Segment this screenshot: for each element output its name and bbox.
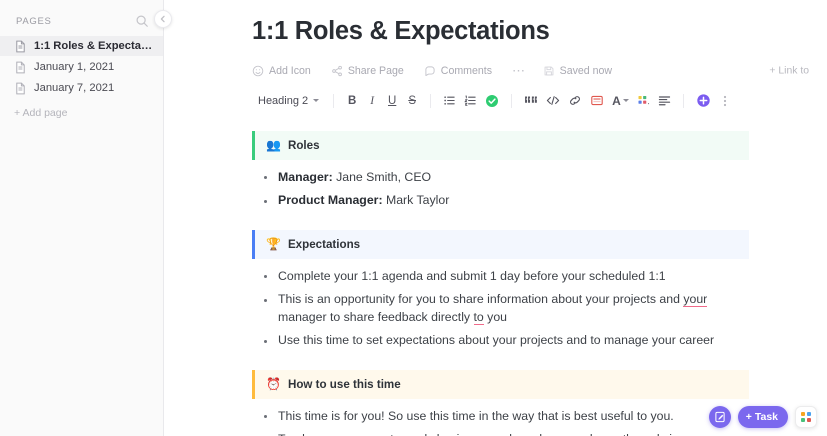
sidebar-item-label: January 7, 2021 — [34, 82, 114, 94]
search-icon[interactable] — [135, 14, 149, 28]
new-note-button[interactable] — [709, 406, 731, 428]
apps-menu-button[interactable] — [795, 406, 817, 428]
save-status-label: Saved now — [560, 65, 612, 77]
sidebar-item-roles-expectations[interactable]: 1:1 Roles & Expectations — [0, 36, 163, 56]
sidebar-item-label: 1:1 Roles & Expectations — [34, 40, 153, 52]
save-icon — [543, 65, 555, 77]
list-item-value: Mark Taylor — [383, 193, 450, 207]
app-root: PAGES 1:1 Roles & Expectations — [0, 0, 827, 436]
document-body: 1:1 Roles & Expectations Add Icon — [164, 0, 827, 436]
document-icon — [14, 61, 27, 74]
text-color-label: A — [612, 94, 621, 108]
code-button[interactable] — [542, 91, 564, 111]
chevron-down-icon — [623, 99, 629, 102]
callout-roles[interactable]: 👥 Roles — [252, 131, 749, 160]
link-button[interactable] — [564, 91, 586, 111]
more-vertical-icon — [723, 94, 727, 108]
list-item[interactable]: Complete your 1:1 agenda and submit 1 da… — [252, 268, 732, 286]
italic-button[interactable]: I — [362, 91, 382, 111]
code-icon — [546, 94, 560, 107]
toolbar-more-button[interactable] — [715, 91, 735, 111]
numbered-list-button[interactable] — [460, 91, 481, 111]
toolbar-divider — [683, 94, 684, 108]
banner-icon — [590, 94, 604, 107]
heading-style-label: Heading 2 — [258, 95, 308, 107]
list-item[interactable]: Product Manager: Mark Taylor — [252, 192, 732, 210]
sidebar: PAGES 1:1 Roles & Expectations — [0, 0, 164, 436]
share-icon — [331, 65, 343, 77]
alarm-clock-icon: ⏰ — [266, 378, 281, 390]
align-button[interactable] — [654, 91, 675, 111]
share-page-button[interactable]: Share Page — [331, 65, 404, 77]
sidebar-collapse-button[interactable] — [154, 10, 172, 28]
insert-button[interactable] — [692, 91, 715, 111]
add-icon-label: Add Icon — [269, 65, 311, 77]
list-item[interactable]: Manager: Jane Smith, CEO — [252, 169, 732, 187]
quote-icon — [524, 95, 538, 106]
chevron-down-icon — [313, 99, 319, 102]
highlight-button[interactable] — [633, 91, 654, 111]
spellcheck-word: your — [683, 292, 707, 307]
chevron-left-icon — [159, 15, 167, 23]
sidebar-header: PAGES — [0, 10, 163, 34]
comment-icon — [424, 65, 436, 77]
sidebar-item-label: January 1, 2021 — [34, 61, 114, 73]
document-area: 1:1 Roles & Expectations Add Icon — [164, 0, 827, 436]
callout-heading: How to use this time — [288, 378, 401, 391]
expectations-list: Complete your 1:1 agenda and submit 1 da… — [252, 268, 827, 350]
underline-button[interactable]: U — [382, 91, 402, 111]
highlight-icon — [637, 94, 650, 107]
edit-note-icon — [714, 411, 726, 423]
toolbar-divider — [333, 94, 334, 108]
add-task-label: Task — [755, 411, 778, 423]
strikethrough-button[interactable]: S — [402, 91, 422, 111]
bold-button[interactable]: B — [342, 91, 362, 111]
callout-heading: Roles — [288, 139, 320, 152]
callout-expectations[interactable]: 🏆 Expectations — [252, 230, 749, 259]
callout-how-to-use[interactable]: ⏰ How to use this time — [252, 370, 749, 399]
trophy-icon: 🏆 — [266, 238, 281, 250]
callout-heading: Expectations — [288, 238, 360, 251]
sidebar-item-january-7[interactable]: January 7, 2021 — [0, 78, 163, 98]
floating-action-bar: + Task — [709, 406, 817, 428]
bullet-list-icon — [443, 94, 456, 107]
quote-button[interactable] — [520, 91, 542, 111]
checklist-icon — [485, 94, 499, 108]
text-color-button[interactable]: A — [608, 91, 633, 111]
list-item[interactable]: Use this time to set expectations about … — [252, 332, 732, 350]
heading-style-dropdown[interactable]: Heading 2 — [252, 91, 325, 111]
toolbar-divider — [511, 94, 512, 108]
apps-grid-icon — [801, 412, 811, 422]
list-item[interactable]: This is an opportunity for you to share … — [252, 291, 732, 326]
align-icon — [658, 94, 671, 107]
list-item-label: Product Manager: — [278, 193, 383, 207]
list-item-label: Manager: — [278, 170, 333, 184]
comments-button[interactable]: Comments — [424, 65, 492, 77]
numbered-list-icon — [464, 94, 477, 107]
share-page-label: Share Page — [348, 65, 404, 77]
banner-button[interactable] — [586, 91, 608, 111]
document-icon — [14, 82, 27, 95]
people-icon: 👥 — [266, 139, 281, 151]
roles-list: Manager: Jane Smith, CEO Product Manager… — [252, 169, 827, 210]
add-circle-icon — [696, 93, 711, 108]
spellcheck-word: to — [474, 310, 484, 325]
add-icon-button[interactable]: Add Icon — [252, 65, 311, 77]
comments-label: Comments — [441, 65, 492, 77]
document-action-row: Add Icon Share Page Comments ⋯ — [252, 61, 827, 81]
add-page-button[interactable]: + Add page — [0, 99, 163, 119]
add-task-button[interactable]: + Task — [738, 406, 788, 428]
link-to-button[interactable]: + Link to — [769, 65, 809, 76]
toolbar-divider — [430, 94, 431, 108]
page-title[interactable]: 1:1 Roles & Expectations — [252, 16, 827, 47]
bullet-list-button[interactable] — [439, 91, 460, 111]
list-item[interactable]: This time is for you! So use this time i… — [252, 408, 732, 426]
formatting-toolbar: Heading 2 B I U S — [252, 89, 827, 113]
sidebar-item-january-1[interactable]: January 1, 2021 — [0, 57, 163, 77]
checklist-button[interactable] — [481, 91, 503, 111]
save-status: Saved now — [543, 65, 612, 77]
list-item[interactable]: Track your progress towards business goa… — [252, 431, 732, 436]
page-list: 1:1 Roles & Expectations January 1, 2021 — [0, 36, 163, 98]
more-options-button[interactable]: ⋯ — [512, 63, 527, 79]
document-icon — [14, 40, 27, 53]
sidebar-title: PAGES — [16, 16, 52, 27]
list-item-value: Jane Smith, CEO — [333, 170, 431, 184]
link-icon — [568, 94, 582, 107]
plus-icon: + — [746, 411, 752, 423]
smiley-icon — [252, 65, 264, 77]
